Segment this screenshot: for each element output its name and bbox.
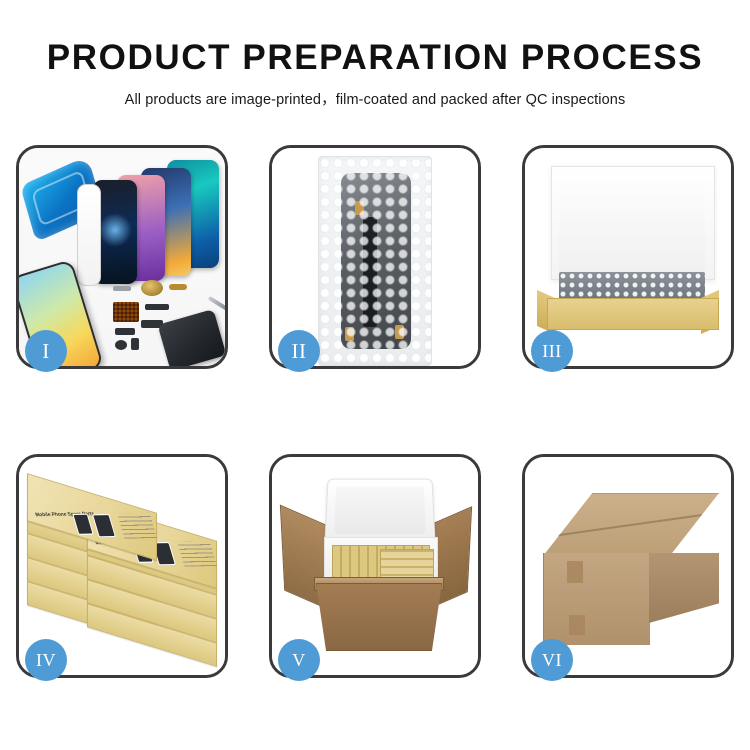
process-steps-grid: I II [16,145,734,678]
phone-backplate-icon [158,309,225,366]
step-card-3[interactable]: III [522,145,734,369]
tempered-glass-sheet [77,184,101,286]
sim-tray-icon [113,286,131,291]
tape-tab-bottom-right-icon [395,325,404,339]
retail-box-thumb-left-1 [74,515,93,534]
spare-parts-group [111,280,225,366]
header: PRODUCT PREPARATION PROCESS All products… [0,38,750,109]
speaker-part-icon [141,280,163,296]
bracket-part-icon [115,328,135,335]
inner-box-base [547,298,719,330]
step-badge-6: VI [531,639,573,681]
inner-box-foam [559,182,705,272]
tape-tab-top-icon [355,201,364,215]
step-card-4[interactable]: Mobile Phone Spare Parts Mobile Phone Sp… [16,454,228,678]
step-badge-4: IV [25,639,67,681]
retail-box-thumb-left-2 [93,515,114,536]
carton-body [316,583,442,651]
retail-box-stack: Mobile Phone Spare Parts Mobile Phone Sp… [27,479,225,669]
tape-tab-bottom-left-icon [345,327,354,341]
product-preparation-page: PRODUCT PREPARATION PROCESS All products… [0,0,750,750]
foam-box-lid [324,479,435,544]
step-card-2[interactable]: II [269,145,481,369]
shipping-carton-tape-lower [569,615,585,635]
shipping-carton-side [649,553,719,623]
step-card-6[interactable]: VI [522,454,734,678]
phone-display-fan [77,160,225,290]
shipping-carton-tape-upper [567,561,583,583]
step-badge-2: II [278,330,320,372]
page-title: PRODUCT PREPARATION PROCESS [0,38,750,78]
shipping-carton-front [543,553,650,645]
mesh-part-icon [113,302,139,322]
step-card-5[interactable]: V [269,454,481,678]
retail-box-text-lines-left [117,513,157,539]
camera-part-icon [115,340,127,350]
step-card-1[interactable]: I [16,145,228,369]
retail-box-text-lines-right [177,541,217,567]
flex-cable-icon [145,304,169,310]
screen-flex-cable [363,217,377,327]
step-badge-3: III [531,330,573,372]
shipping-carton-seam [543,493,719,555]
button-part-icon [131,338,139,350]
step-badge-1: I [25,330,67,372]
flex-cable-gold-icon [169,284,187,290]
page-subtitle: All products are image-printed，film-coat… [0,88,750,109]
step-badge-5: V [278,639,320,681]
inner-box-bubble-wrap [559,272,705,300]
bubble-wrap-bag [318,156,432,366]
